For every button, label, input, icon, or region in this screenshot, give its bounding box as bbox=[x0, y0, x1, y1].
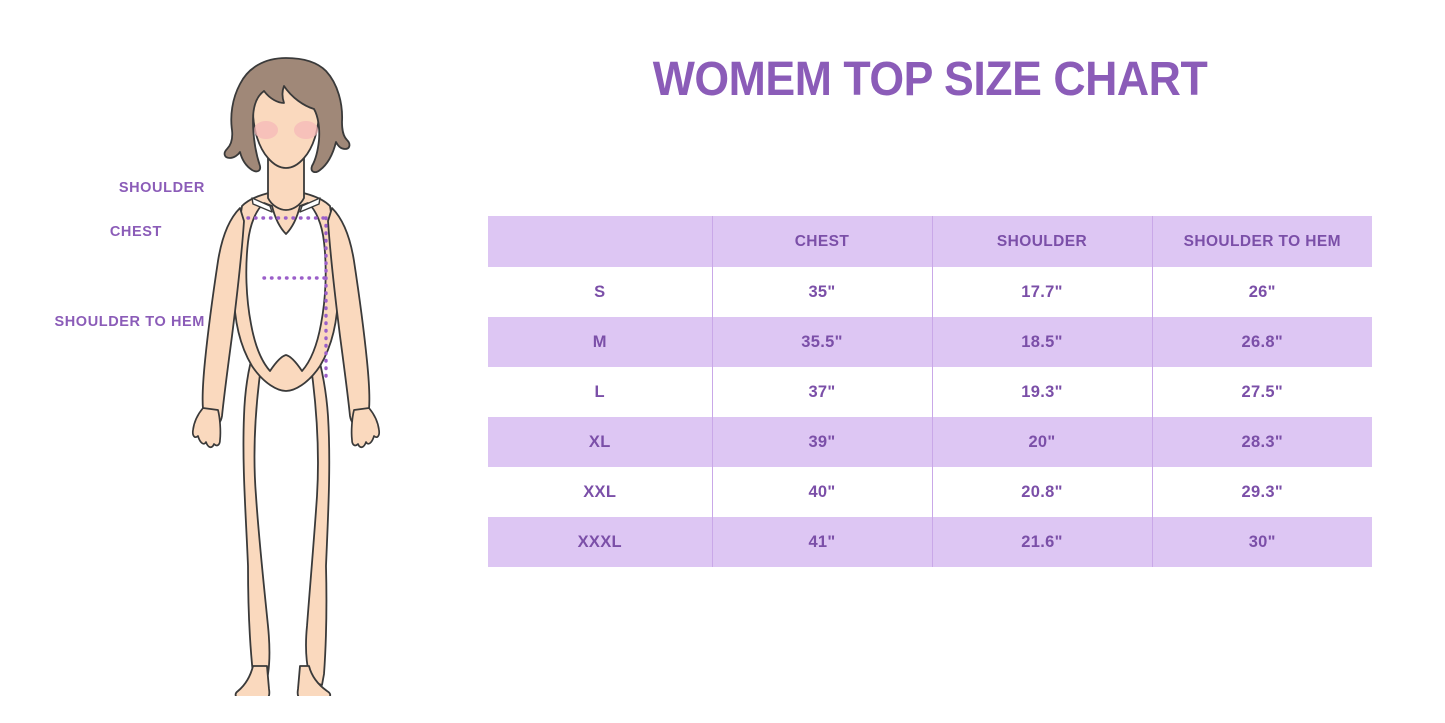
table-row: XXL 40" 20.8" 29.3" bbox=[488, 467, 1372, 517]
cell-chest: 41" bbox=[712, 517, 932, 567]
cell-hem: 30" bbox=[1152, 517, 1372, 567]
cell-shoulder: 18.5" bbox=[932, 317, 1152, 367]
cell-chest: 35.5" bbox=[712, 317, 932, 367]
cell-hem: 26.8" bbox=[1152, 317, 1372, 367]
table-row: XL 39" 20" 28.3" bbox=[488, 417, 1372, 467]
size-chart-table: CHEST SHOULDER SHOULDER TO HEM S 35" 17.… bbox=[488, 216, 1372, 567]
cell-chest: 35" bbox=[712, 267, 932, 317]
cell-size: XL bbox=[488, 417, 712, 467]
blush-right bbox=[294, 121, 318, 139]
cell-hem: 29.3" bbox=[1152, 467, 1372, 517]
cell-size: XXL bbox=[488, 467, 712, 517]
cell-chest: 40" bbox=[712, 467, 932, 517]
female-body-svg bbox=[193, 58, 379, 696]
table-header-row: CHEST SHOULDER SHOULDER TO HEM bbox=[488, 216, 1372, 267]
column-header-chest: CHEST bbox=[712, 216, 932, 267]
table-row: S 35" 17.7" 26" bbox=[488, 267, 1372, 317]
cell-size: L bbox=[488, 367, 712, 417]
table-row: L 37" 19.3" 27.5" bbox=[488, 367, 1372, 417]
cell-size: S bbox=[488, 267, 712, 317]
measurement-label-chest: CHEST bbox=[110, 224, 162, 240]
cell-hem: 27.5" bbox=[1152, 367, 1372, 417]
cell-size: M bbox=[488, 317, 712, 367]
cell-hem: 26" bbox=[1152, 267, 1372, 317]
cell-shoulder: 19.3" bbox=[932, 367, 1152, 417]
cell-shoulder: 20" bbox=[932, 417, 1152, 467]
cell-chest: 37" bbox=[712, 367, 932, 417]
size-chart-page: WOMEM TOP SIZE CHART SHOULDER CHEST SHOU… bbox=[0, 0, 1445, 723]
cell-shoulder: 17.7" bbox=[932, 267, 1152, 317]
column-header-size bbox=[488, 216, 712, 267]
cell-shoulder: 20.8" bbox=[932, 467, 1152, 517]
table-row: XXXL 41" 21.6" 30" bbox=[488, 517, 1372, 567]
blush-left bbox=[254, 121, 278, 139]
cell-chest: 39" bbox=[712, 417, 932, 467]
table-row: M 35.5" 18.5" 26.8" bbox=[488, 317, 1372, 367]
cell-hem: 28.3" bbox=[1152, 417, 1372, 467]
body-figure-illustration bbox=[160, 46, 460, 696]
column-header-shoulder: SHOULDER bbox=[932, 216, 1152, 267]
column-header-hem: SHOULDER TO HEM bbox=[1152, 216, 1372, 267]
page-title: WOMEM TOP SIZE CHART bbox=[512, 52, 1349, 107]
cell-shoulder: 21.6" bbox=[932, 517, 1152, 567]
cell-size: XXXL bbox=[488, 517, 712, 567]
